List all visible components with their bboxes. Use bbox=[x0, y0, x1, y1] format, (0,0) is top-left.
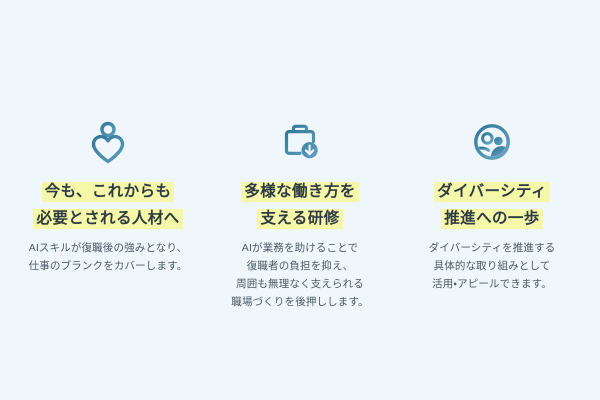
body-line: 周囲も無理なく支えられる bbox=[231, 275, 368, 293]
body-line: 復職者の負担を抑え、 bbox=[231, 257, 368, 275]
headline-line: 多様な働き方を bbox=[241, 182, 358, 202]
headline-line: 必要とされる人材へ bbox=[33, 209, 182, 229]
body-line: 活用・アピールできます。 bbox=[429, 275, 556, 293]
benefit-headline-2: 多様な働き方を 支える研修 bbox=[241, 180, 358, 230]
headline-line: 今も、これからも bbox=[42, 182, 175, 202]
person-heart-icon bbox=[85, 118, 131, 166]
briefcase-download-icon bbox=[277, 118, 323, 166]
benefit-body-3: ダイバーシティを推進する 具体的な取り組みとして 活用・アピールできます。 bbox=[429, 239, 556, 293]
headline-line: 支える研修 bbox=[257, 209, 342, 229]
body-line: 具体的な取り組みとして bbox=[429, 257, 556, 275]
body-line: AIスキルが復職後の強みとなり、 bbox=[29, 239, 188, 257]
benefit-card-1: 今も、これからも 必要とされる人材へ AIスキルが復職後の強みとなり、 仕事のブ… bbox=[15, 118, 201, 275]
benefits-columns: 今も、これからも 必要とされる人材へ AIスキルが復職後の強みとなり、 仕事のブ… bbox=[15, 118, 585, 311]
body-line: 仕事のブランクをカバーします。 bbox=[29, 257, 188, 275]
benefits-section: 今も、これからも 必要とされる人材へ AIスキルが復職後の強みとなり、 仕事のブ… bbox=[0, 0, 600, 400]
headline-line: ダイバーシティ bbox=[434, 182, 550, 202]
benefit-headline-3: ダイバーシティ 推進への一歩 bbox=[434, 180, 550, 230]
diversity-people-icon bbox=[469, 118, 515, 166]
benefit-body-2: AIが業務を助けることで 復職者の負担を抑え、 周囲も無理なく支えられる 職場づ… bbox=[231, 239, 368, 311]
benefit-headline-1: 今も、これからも 必要とされる人材へ bbox=[33, 180, 182, 230]
benefit-card-2: 多様な働き方を 支える研修 AIが業務を助けることで 復職者の負担を抑え、 周囲… bbox=[207, 118, 393, 311]
benefit-card-3: ダイバーシティ 推進への一歩 ダイバーシティを推進する 具体的な取り組みとして … bbox=[399, 118, 585, 293]
headline-line: 推進への一歩 bbox=[441, 209, 542, 229]
body-line: AIが業務を助けることで bbox=[231, 239, 368, 257]
body-line: 職場づくりを後押しします。 bbox=[231, 293, 368, 311]
benefit-body-1: AIスキルが復職後の強みとなり、 仕事のブランクをカバーします。 bbox=[29, 239, 188, 275]
body-line: ダイバーシティを推進する bbox=[429, 239, 556, 257]
